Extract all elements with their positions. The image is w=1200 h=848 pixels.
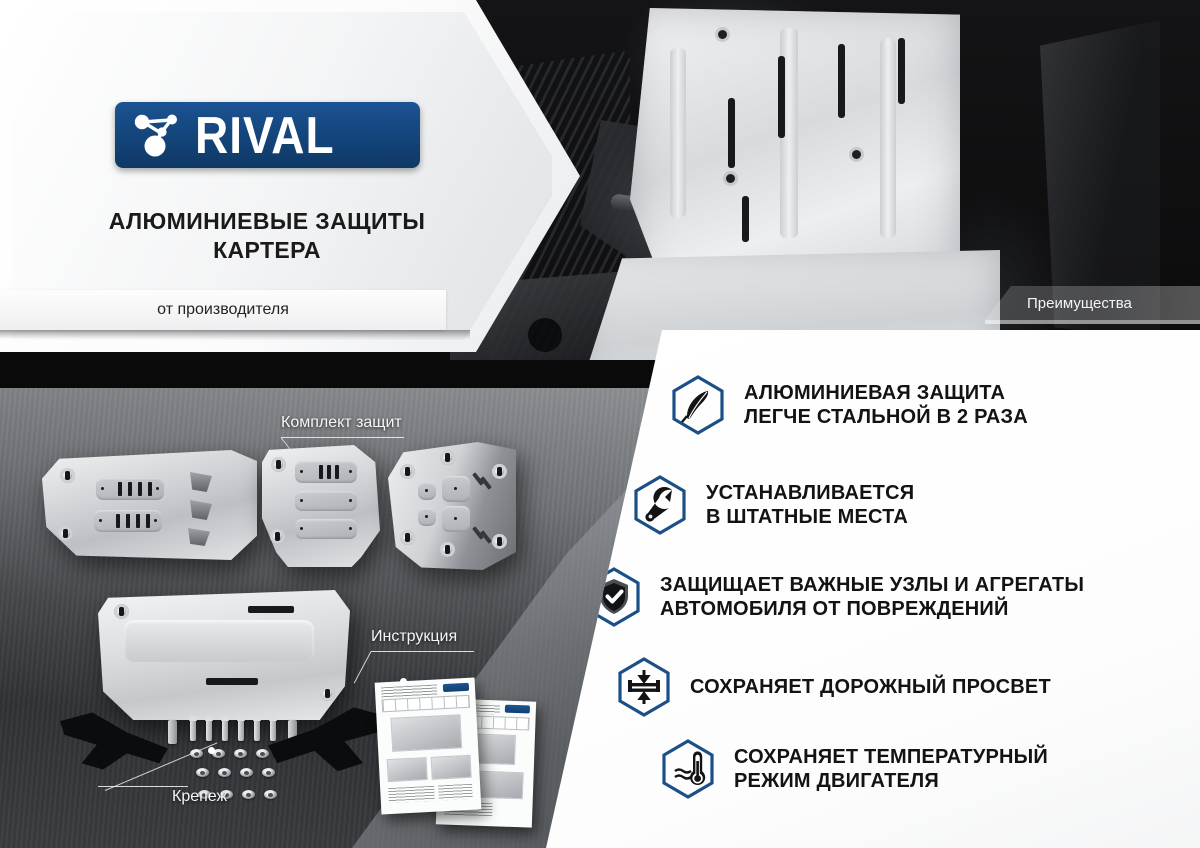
advantages-tab-label: Преимущества — [1027, 295, 1132, 312]
advantage-text: УСТАНАВЛИВАЕТСЯ В ШТАТНЫЕ МЕСТА — [706, 481, 914, 529]
kit-label-rule — [281, 437, 404, 438]
clearance-icon — [616, 656, 672, 718]
instruction-label-rule — [371, 651, 474, 652]
advantages-tab: Преимущества — [985, 286, 1200, 320]
advantage-item-clearance: СОХРАНЯЕТ ДОРОЖНЫЙ ПРОСВЕТ — [616, 656, 1051, 718]
subtitle-text: от производителя — [157, 301, 289, 319]
thermometer-icon — [660, 738, 716, 800]
subtitle-band: от производителя — [0, 290, 446, 330]
brand-wordmark: RIVAL — [195, 109, 335, 161]
wrench-icon — [632, 474, 688, 536]
advantage-item-protection: ЗАЩИЩАЕТ ВАЖНЫЕ УЗЛЫ И АГРЕГАТЫ АВТОМОБИ… — [586, 566, 1084, 628]
advantage-text: АЛЮМИНИЕВАЯ ЗАЩИТА ЛЕГЧЕ СТАЛЬНОЙ В 2 РА… — [744, 381, 1028, 429]
advantage-item-fitment: УСТАНАВЛИВАЕТСЯ В ШТАТНЫЕ МЕСТА — [632, 474, 914, 536]
kit-label: Комплект защит — [281, 414, 402, 432]
product-banner: RIVAL АЛЮМИНИЕВЫЕ ЗАЩИТЫ КАРТЕРА от прои… — [0, 0, 1200, 848]
skid-plate-left — [42, 450, 257, 560]
instruction-leader-point — [400, 678, 407, 685]
molecule-icon — [131, 111, 183, 159]
instruction-label: Инструкция — [371, 628, 457, 646]
skid-plate-center — [262, 445, 380, 567]
feather-icon — [670, 374, 726, 436]
instruction-sheet-front — [375, 677, 482, 814]
hardware-label-rule — [98, 786, 188, 787]
advantage-text: СОХРАНЯЕТ ТЕМПЕРАТУРНЫЙ РЕЖИМ ДВИГАТЕЛЯ — [734, 745, 1048, 793]
advantage-text: ЗАЩИЩАЕТ ВАЖНЫЕ УЗЛЫ И АГРЕГАТЫ АВТОМОБИ… — [660, 573, 1084, 621]
hardware-label: Крепеж — [172, 788, 227, 806]
hardware-leader-point — [208, 747, 215, 754]
hero-panel: RIVAL АЛЮМИНИЕВЫЕ ЗАЩИТЫ КАРТЕРА от прои… — [0, 0, 580, 352]
page-title: АЛЮМИНИЕВЫЕ ЗАЩИТЫ КАРТЕРА — [102, 207, 432, 266]
advantage-item-temperature: СОХРАНЯЕТ ТЕМПЕРАТУРНЫЙ РЕЖИМ ДВИГАТЕЛЯ — [660, 738, 1048, 800]
advantage-text: СОХРАНЯЕТ ДОРОЖНЫЙ ПРОСВЕТ — [690, 675, 1051, 699]
band-shadow — [0, 330, 470, 339]
advantages-tab-underline — [985, 320, 1200, 324]
skid-plate-front-large — [98, 590, 350, 720]
advantage-item-weight: АЛЮМИНИЕВАЯ ЗАЩИТА ЛЕГЧЕ СТАЛЬНОЙ В 2 РА… — [670, 374, 1028, 436]
brand-logo: RIVAL — [115, 102, 420, 168]
skid-plate-right — [388, 442, 516, 570]
